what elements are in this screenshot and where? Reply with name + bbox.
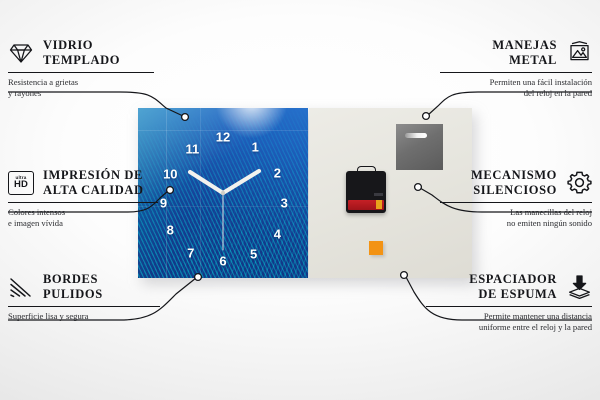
feature-desc-line-2: no emiten ningún sonido bbox=[507, 218, 592, 228]
feature-mecanismo-silencioso: MECANISMO SILENCIOSO Las manecillas del … bbox=[392, 168, 592, 229]
feature-title-line-1: MECANISMO bbox=[471, 168, 557, 182]
diamond-icon bbox=[8, 40, 34, 66]
ultra-hd-main-text: HD bbox=[14, 180, 28, 190]
feature-title-line-1: BORDES bbox=[43, 272, 98, 286]
ultra-hd-badge: ultra HD bbox=[8, 171, 34, 195]
metal-hanger-plate bbox=[396, 124, 443, 170]
feature-title-line-1: VIDRIO bbox=[43, 38, 93, 52]
feature-divider bbox=[440, 202, 592, 203]
feature-desc-line-1: Resistencia a grietas bbox=[8, 77, 78, 87]
feature-divider bbox=[8, 306, 160, 307]
movement-hanger-tab bbox=[357, 166, 376, 174]
feature-description: Resistencia a grietas y rayones bbox=[8, 77, 208, 100]
feature-desc-line-2: uniforme entre el reloj y la pared bbox=[479, 322, 592, 332]
feature-title: MANEJAS METAL bbox=[492, 38, 557, 68]
hanger-slot bbox=[405, 133, 427, 138]
feature-desc-line-2: y rayones bbox=[8, 88, 41, 98]
feature-heading: BORDES PULIDOS bbox=[8, 272, 208, 302]
feature-desc-line-1: Las manecillas del reloj bbox=[510, 207, 592, 217]
feature-heading: ultra HD IMPRESIÓN DE ALTA CALIDAD bbox=[8, 168, 208, 198]
feature-manejas-metal: MANEJAS METAL Permiten una fácil instala… bbox=[392, 38, 592, 99]
feature-title-line-1: IMPRESIÓN DE bbox=[43, 168, 143, 182]
feature-title: IMPRESIÓN DE ALTA CALIDAD bbox=[43, 168, 144, 198]
feature-description: Permiten una fácil instalación del reloj… bbox=[392, 77, 592, 100]
polished-edges-icon bbox=[8, 274, 34, 300]
feature-impresion-alta-calidad: ultra HD IMPRESIÓN DE ALTA CALIDAD Color… bbox=[8, 168, 208, 229]
feature-title: BORDES PULIDOS bbox=[43, 272, 103, 302]
feature-espaciador-de-espuma: ESPACIADOR DE ESPUMA Permite mantener un… bbox=[392, 272, 592, 333]
feature-title: MECANISMO SILENCIOSO bbox=[471, 168, 557, 198]
feature-divider bbox=[440, 72, 592, 73]
quartz-movement bbox=[346, 171, 386, 213]
battery-terminal bbox=[376, 200, 382, 209]
feature-description: Superficie lisa y segura bbox=[8, 311, 208, 322]
feature-title-line-1: ESPACIADOR bbox=[469, 272, 557, 286]
feature-desc-line-1: Colores intensos bbox=[8, 207, 65, 217]
feature-desc-line-1: Permite mantener una distancia bbox=[484, 311, 592, 321]
feature-desc-line-1: Permiten una fácil instalación bbox=[490, 77, 592, 87]
feature-title-line-2: PULIDOS bbox=[43, 287, 103, 301]
infographic-canvas: 12 1 2 3 4 5 6 7 8 9 10 11 bbox=[0, 0, 600, 400]
ultra-hd-icon: ultra HD bbox=[8, 170, 34, 196]
feature-heading: VIDRIO TEMPLADO bbox=[8, 38, 208, 68]
feature-bordes-pulidos: BORDES PULIDOS Superficie lisa y segura bbox=[8, 272, 208, 322]
battery-compartment bbox=[348, 200, 384, 210]
feature-title-line-2: ALTA CALIDAD bbox=[43, 183, 144, 197]
minute-hand bbox=[223, 171, 259, 193]
clock-center-cap bbox=[221, 191, 225, 195]
foam-spacer-square bbox=[369, 241, 383, 255]
feature-description: Permite mantener una distancia uniforme … bbox=[392, 311, 592, 334]
feature-title-line-2: TEMPLADO bbox=[43, 53, 120, 67]
feature-desc-line-1: Superficie lisa y segura bbox=[8, 311, 88, 321]
feature-desc-line-2: e imagen vívida bbox=[8, 218, 63, 228]
feature-divider bbox=[8, 202, 158, 203]
feature-divider bbox=[8, 72, 154, 73]
feature-title-line-2: SILENCIOSO bbox=[473, 183, 557, 197]
feature-title: ESPACIADOR DE ESPUMA bbox=[469, 272, 557, 302]
picture-hanger-icon bbox=[566, 40, 592, 66]
feature-title-line-1: MANEJAS bbox=[492, 38, 557, 52]
feature-heading: MECANISMO SILENCIOSO bbox=[392, 168, 592, 198]
feature-title-line-2: DE ESPUMA bbox=[478, 287, 557, 301]
gear-icon bbox=[566, 170, 592, 196]
feature-divider bbox=[426, 306, 592, 307]
movement-detail bbox=[374, 193, 383, 196]
feature-heading: ESPACIADOR DE ESPUMA bbox=[392, 272, 592, 302]
feature-title: VIDRIO TEMPLADO bbox=[43, 38, 120, 68]
feature-heading: MANEJAS METAL bbox=[392, 38, 592, 68]
feature-description: Colores intensos e imagen vívida bbox=[8, 207, 208, 230]
feature-description: Las manecillas del reloj no emiten ningú… bbox=[392, 207, 592, 230]
feature-title-line-2: METAL bbox=[509, 53, 557, 67]
foam-spacer-icon bbox=[566, 274, 592, 300]
feature-vidrio-templado: VIDRIO TEMPLADO Resistencia a grietas y … bbox=[8, 38, 208, 99]
feature-desc-line-2: del reloj en la pared bbox=[524, 88, 592, 98]
